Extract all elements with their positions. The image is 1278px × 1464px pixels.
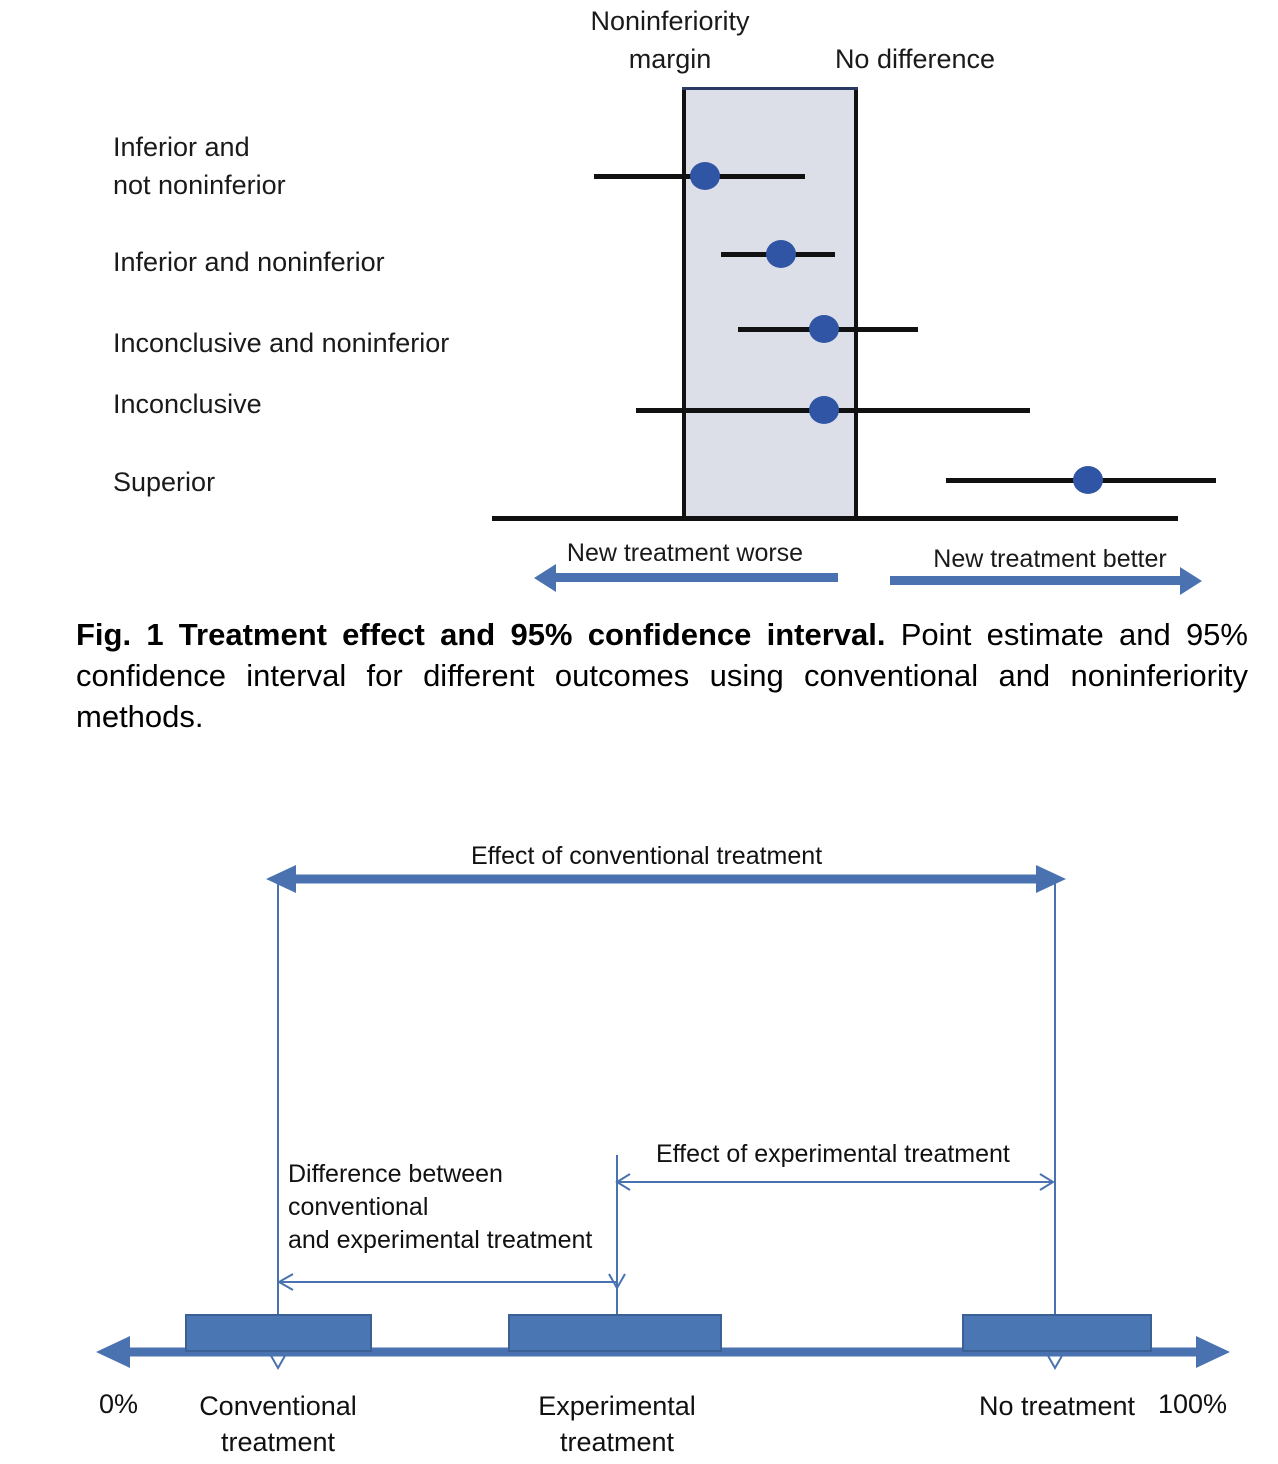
better-arrow-head	[1180, 567, 1202, 595]
figure-1-forest-plot: Noninferiority margin No difference Infe…	[0, 0, 1278, 600]
noninferiority-band	[682, 87, 858, 518]
axis-label-100-percent: 100%	[1158, 1388, 1227, 1420]
row-label-inferior-not-noninferior: Inferior and not noninferior	[113, 128, 286, 204]
difference-label: Difference between conventional and expe…	[288, 1158, 592, 1257]
new-treatment-worse-label: New treatment worse	[530, 538, 840, 568]
effect-experimental-arrow	[610, 1172, 1060, 1192]
tick-label-experimental-treatment: Experimental treatment	[507, 1388, 727, 1460]
figure-1-caption: Fig. 1 Treatment effect and 95% confiden…	[76, 614, 1248, 737]
effect-experimental-label: Effect of experimental treatment	[656, 1138, 1010, 1171]
forest-plot-axis	[492, 516, 1178, 521]
difference-arrow	[272, 1270, 627, 1294]
no-treatment-connector-line	[1054, 879, 1056, 1352]
point-estimate-row-1	[690, 162, 720, 190]
effect-conventional-arrow	[266, 862, 1066, 896]
tick-label-no-treatment: No treatment	[947, 1388, 1167, 1424]
row-label-inconclusive: Inconclusive	[113, 385, 262, 423]
bar-conventional-treatment	[185, 1314, 372, 1352]
point-estimate-row-3	[809, 315, 839, 343]
point-estimate-row-4	[809, 396, 839, 424]
no-difference-label: No difference	[800, 40, 1030, 78]
band-top-rule	[682, 87, 858, 90]
better-arrow-shaft	[890, 576, 1180, 585]
worse-arrow-head	[534, 564, 556, 592]
worse-arrow-shaft	[556, 573, 838, 582]
tick-label-conventional-treatment: Conventional treatment	[168, 1388, 388, 1460]
noninferiority-margin-label: Noninferiority margin	[520, 2, 820, 78]
row-label-inconclusive-and-noninferior: Inconclusive and noninferior	[113, 324, 449, 362]
figure-2-effects-diagram: Effect of conventional treatment Effect …	[0, 800, 1278, 1464]
difference-arrow-down-head	[606, 1262, 628, 1290]
new-treatment-better-label: New treatment better	[895, 544, 1205, 574]
caption-bold-title: Fig. 1 Treatment effect and 95% confiden…	[76, 617, 885, 652]
point-estimate-row-5	[1073, 466, 1103, 494]
point-estimate-row-2	[766, 240, 796, 268]
bar-experimental-treatment	[508, 1314, 722, 1352]
axis-label-0-percent: 0%	[99, 1388, 138, 1420]
bar-no-treatment	[962, 1314, 1152, 1352]
figure-page: Noninferiority margin No difference Infe…	[0, 0, 1278, 1464]
row-label-superior: Superior	[113, 463, 215, 501]
row-label-inferior-and-noninferior: Inferior and noninferior	[113, 243, 385, 281]
